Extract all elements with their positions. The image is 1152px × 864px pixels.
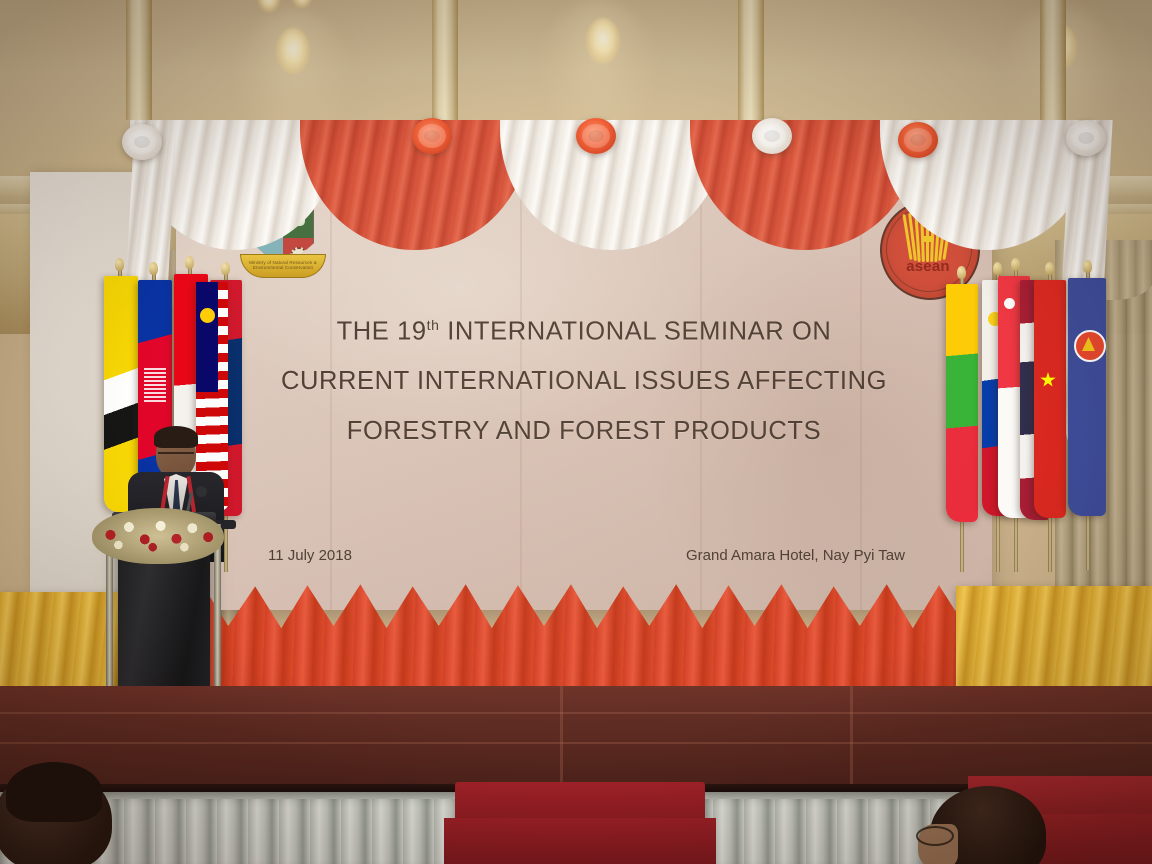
flag-finial [115,258,124,271]
stage-step-upper [455,782,705,820]
stage-seam [560,686,563,786]
stage-seam [0,742,1152,744]
downlight-icon [586,18,620,64]
rosette-icon [122,124,162,160]
audience-hair-left [6,762,102,822]
flag-malaysia-star-icon [200,308,215,323]
ordinal-suffix: th [427,317,440,333]
wall-pilaster [126,0,152,120]
flag-myanmar [946,284,978,522]
monrec-ribbon-text: Ministry of Natural Resources & Environm… [241,260,325,270]
flag-malaysia-canton [196,282,218,392]
flag-finial [1011,258,1020,271]
flower-arrangement [92,508,224,564]
wall-pilaster [738,0,764,120]
rosette-icon [898,122,938,158]
flag-asean [1068,278,1106,516]
banner-title-line-2: CURRENT INTERNATIONAL ISSUES AFFECTING [196,369,972,395]
flag-cambodia-temple [144,368,166,402]
stage-step-lower [444,818,716,864]
monrec-ribbon: Ministry of Natural Resources & Environm… [240,254,326,278]
rosette-icon [1066,120,1106,156]
wall-pilaster [1040,0,1066,120]
banner-title-block: THE 19th INTERNATIONAL SEMINAR ON CURREN… [196,318,972,468]
flag-finial [1083,260,1092,273]
speaker-hair [154,426,198,448]
banner-title-line-1-pre: THE 19 [337,318,427,346]
banner-title-line-1-post: INTERNATIONAL SEMINAR ON [440,318,832,346]
downlight-icon [276,28,310,74]
banner-date: 11 July 2018 [268,547,352,564]
rosette-icon [752,118,792,154]
wall-pilaster [432,0,458,120]
flag-finial [185,256,194,269]
flag-finial [149,262,158,275]
stage-seam [850,686,853,786]
flag-finial [957,266,966,279]
banner-venue: Grand Amara Hotel, Nay Pyi Taw [686,547,905,564]
stage-seam [0,712,1152,714]
photo-scene: THE 19th INTERNATIONAL SEMINAR ON CURREN… [0,0,1152,864]
flag-singapore-crescent-icon [1004,298,1015,309]
flag-finial [221,262,230,275]
asean-stalk-tie [922,236,934,242]
rosette-icon [412,118,452,154]
banner-title-line-1: THE 19th INTERNATIONAL SEMINAR ON [196,318,972,345]
microphone-icon [196,486,207,497]
rosette-icon [576,118,616,154]
flag-finial [993,262,1002,275]
banner-title-line-3: FORESTRY AND FOREST PRODUCTS [196,419,972,445]
glasses-icon [916,826,954,846]
flag-vietnam [1034,280,1066,518]
flag-finial [1045,262,1054,275]
glasses-icon [158,452,194,462]
